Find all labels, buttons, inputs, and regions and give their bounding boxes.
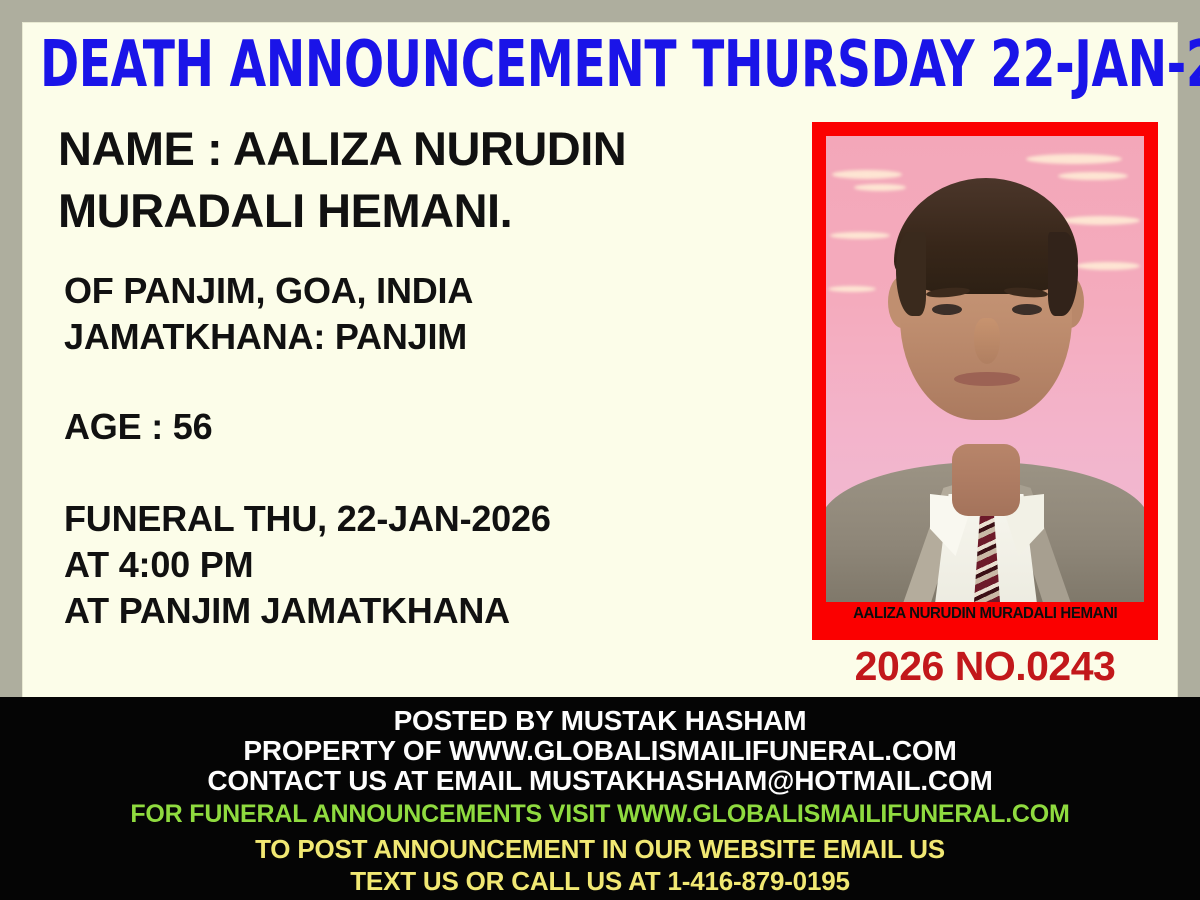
funeral-place: AT PANJIM JAMATKHANA [64, 588, 804, 634]
deceased-name: NAME : AALIZA NURUDIN MURADALI HEMANI. [58, 118, 798, 242]
deceased-age: AGE : 56 [64, 404, 804, 450]
deceased-jamatkhana: JAMATKHANA: PANJIM [64, 314, 804, 360]
details-spacer-1 [64, 360, 804, 404]
neck [952, 444, 1020, 516]
nose [974, 318, 1000, 364]
photo-caption-band: AALIZA NURUDIN MURADALI HEMANI [826, 602, 1144, 626]
eye-left [932, 304, 962, 315]
deceased-photo [826, 136, 1144, 612]
deceased-photo-frame: AALIZA NURUDIN MURADALI HEMANI [812, 122, 1158, 640]
funeral-time: AT 4:00 PM [64, 542, 804, 588]
eye-right [1012, 304, 1042, 315]
deceased-origin: OF PANJIM, GOA, INDIA [64, 268, 804, 314]
deceased-details: OF PANJIM, GOA, INDIA JAMATKHANA: PANJIM… [64, 268, 804, 634]
mouth [954, 372, 1020, 386]
reference-number: 2026 NO.0243 [812, 644, 1158, 688]
footer-property: PROPERTY OF WWW.GLOBALISMAILIFUNERAL.COM [0, 736, 1200, 766]
poster-footer: POSTED BY MUSTAK HASHAM PROPERTY OF WWW.… [0, 697, 1200, 900]
portrait-figure [826, 136, 1144, 612]
footer-posted-by: POSTED BY MUSTAK HASHAM [0, 706, 1200, 736]
funeral-date: FUNERAL THU, 22-JAN-2026 [64, 496, 804, 542]
footer-contact-email: CONTACT US AT EMAIL MUSTAKHASHAM@HOTMAIL… [0, 766, 1200, 796]
details-spacer-2 [64, 450, 804, 496]
page-title: DEATH ANNOUNCEMENT THURSDAY 22-JAN-2026 [40, 30, 958, 100]
death-announcement-poster: DEATH ANNOUNCEMENT THURSDAY 22-JAN-2026 … [0, 0, 1200, 900]
footer-post-prompt: TO POST ANNOUNCEMENT IN OUR WEBSITE EMAI… [0, 833, 1200, 865]
photo-caption: AALIZA NURUDIN MURADALI HEMANI [853, 605, 1117, 623]
deceased-name-line-1: NAME : AALIZA NURUDIN [58, 118, 798, 180]
footer-phone: TEXT US OR CALL US AT 1-416-879-0195 [0, 865, 1200, 897]
hair-side-left [896, 232, 926, 316]
deceased-name-line-2: MURADALI HEMANI. [58, 180, 798, 242]
footer-announcements: FOR FUNERAL ANNOUNCEMENTS VISIT WWW.GLOB… [0, 799, 1200, 830]
